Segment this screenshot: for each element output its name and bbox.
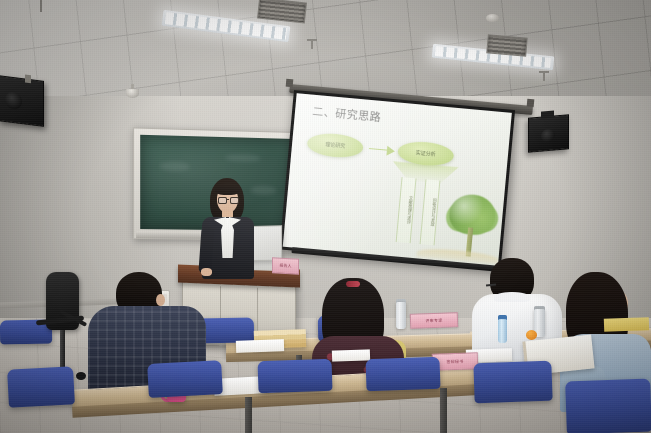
slide-node-left: 理论研究 — [306, 131, 364, 159]
desk-leg — [440, 388, 447, 433]
slide-surface: 二、研究思路 理论研究 实证分析 文献梳理与述评 问卷设计与发放 — [283, 93, 512, 266]
office-swivel-chair — [28, 272, 88, 380]
ceiling-hook-icon — [543, 72, 545, 81]
ceiling-hook-icon — [40, 0, 42, 12]
chair — [565, 379, 651, 433]
ceiling-hook-icon — [307, 39, 317, 41]
ceiling-camera-icon — [126, 84, 139, 98]
chair — [147, 360, 223, 398]
eyeglasses-icon — [218, 197, 237, 202]
paper-stack — [236, 339, 284, 353]
ceiling-hook-icon — [539, 71, 549, 73]
wall-speaker-left — [0, 75, 44, 127]
water-bottle — [498, 319, 507, 343]
smoke-detector-icon — [486, 14, 499, 22]
chair — [7, 366, 75, 407]
presenter — [198, 178, 258, 278]
right-arrow-icon — [368, 145, 394, 153]
slide-vertical-text-right: 问卷设计与发放 — [420, 179, 441, 245]
chair — [473, 361, 552, 404]
wall-speaker-right — [528, 114, 569, 153]
ceiling-hook-icon — [311, 40, 313, 49]
hair-clip-icon — [346, 281, 360, 287]
screen-bracket-left — [286, 79, 294, 88]
air-vent-icon — [486, 34, 528, 56]
projection-screen: 二、研究思路 理论研究 实证分析 文献梳理与述评 问卷设计与发放 — [279, 90, 515, 269]
classroom-photo: 二、研究思路 理论研究 实证分析 文献梳理与述评 问卷设计与发放 — [0, 0, 651, 433]
desk-leg — [245, 397, 252, 433]
screen-bracket-right — [527, 99, 535, 108]
podium-placard: 报告人 — [272, 257, 299, 274]
paper-stack — [332, 349, 370, 361]
slide-title: 二、研究思路 — [312, 102, 382, 124]
slide-vertical-text-left: 文献梳理与述评 — [396, 177, 417, 243]
yellow-folder — [604, 317, 649, 332]
thermos-flask — [396, 302, 406, 329]
chair — [257, 359, 332, 394]
chair — [365, 357, 440, 392]
name-placard: 评审专家 — [410, 312, 458, 329]
orange-fruit — [526, 330, 537, 340]
